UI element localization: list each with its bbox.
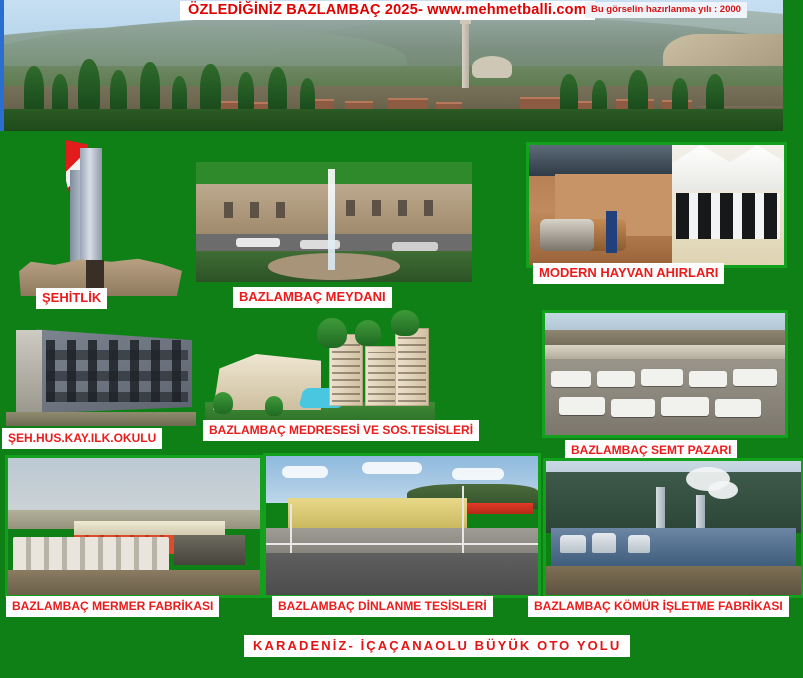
medrese-tree xyxy=(391,310,419,336)
storage-tank xyxy=(560,535,586,553)
school-ground xyxy=(6,412,196,426)
photo-bazlambac-komur-isletme-fabrikasi xyxy=(543,458,803,598)
market-van xyxy=(559,397,605,415)
smoke-plume xyxy=(708,481,738,499)
cow xyxy=(540,219,594,251)
caption-bazlambac-mermer-fabrikasi: BAZLAMBAÇ MERMER FABRİKASI xyxy=(6,596,219,617)
caption-modern-hayvan-ahirlari: MODERN HAYVAN AHIRLARI xyxy=(533,263,724,284)
market-van xyxy=(689,371,727,387)
market-van xyxy=(551,371,591,387)
school-windows xyxy=(46,340,188,402)
market-van xyxy=(715,399,761,417)
caption-bazlambac-medresesi: BAZLAMBAÇ MEDRESESİ VE SOS.TESİSLERİ xyxy=(203,420,479,441)
farm-worker xyxy=(606,211,617,253)
market-van xyxy=(641,369,683,386)
medrese-tower-block xyxy=(395,328,429,406)
photo-bazlambac-mermer-fabrikasi xyxy=(5,455,263,598)
marble-dark-hangar xyxy=(174,535,245,565)
cloud xyxy=(362,462,422,474)
cloud xyxy=(282,466,328,478)
photo-sehitlik xyxy=(8,140,188,295)
light-pole xyxy=(290,504,292,556)
marble-ground xyxy=(8,570,260,595)
caption-seh-hus-kay-ilk-okulu: ŞEH.HUS.KAY.ILK.OKULU xyxy=(2,428,162,449)
market-sheds xyxy=(545,345,785,360)
hero-left-edge xyxy=(0,0,4,131)
caption-bazlambac-komur-isletme-fabrikasi: BAZLAMBAÇ KÖMÜR İŞLETME FABRİKASI xyxy=(528,596,789,617)
medrese-tree xyxy=(213,392,233,414)
photo-bazlambac-meydani xyxy=(196,162,472,282)
market-van xyxy=(661,397,709,416)
parked-car xyxy=(392,242,438,251)
school-end-wall xyxy=(16,330,42,414)
market-van xyxy=(611,399,655,417)
medrese-tower-block xyxy=(365,346,399,406)
hero-foreground xyxy=(0,109,783,131)
monument-pylon xyxy=(80,148,102,263)
caption-bazlambac-dinlanme-tesisleri: BAZLAMBAÇ DİNLANME TESİSLERİ xyxy=(272,596,493,617)
medrese-tree xyxy=(265,396,283,416)
market-van xyxy=(597,371,635,387)
photo-bazlambac-medresesi xyxy=(205,310,435,428)
barn-tent-roof xyxy=(672,145,784,191)
caption-sehitlik: ŞEHİTLİK xyxy=(36,288,107,309)
reststop-building xyxy=(288,498,468,529)
storage-tank xyxy=(628,535,650,553)
medrese-tree xyxy=(317,318,347,348)
barn-right xyxy=(672,145,784,265)
fountain-water-jet xyxy=(328,169,335,270)
road-marking xyxy=(266,543,538,545)
cloud xyxy=(452,468,504,480)
plant-forest-hill xyxy=(546,472,801,534)
caption-bazlambac-meydani: BAZLAMBAÇ MEYDANI xyxy=(233,287,392,308)
parked-car xyxy=(236,238,280,247)
photo-modern-hayvan-ahirlari xyxy=(526,142,787,268)
barn-left xyxy=(529,145,672,265)
storage-tank xyxy=(592,533,616,553)
medrese-tree xyxy=(355,320,381,346)
petrol-station-canopy xyxy=(467,503,532,514)
plant-structures xyxy=(551,528,796,566)
cow-feeding-line xyxy=(676,193,779,239)
market-van xyxy=(733,369,777,386)
hero-poplar-trees xyxy=(0,52,783,114)
plant-ground xyxy=(546,566,801,595)
preparation-year-note: Bu görselin hazırlanma yılı : 2000 xyxy=(585,2,747,18)
barn-roof xyxy=(529,145,672,176)
photo-bazlambac-semt-pazari xyxy=(542,310,788,438)
page-title: ÖZLEDİĞİNİZ BAZLAMBAÇ 2025- www.mehmetba… xyxy=(180,1,595,20)
light-pole xyxy=(462,486,464,560)
reststop-parking xyxy=(266,528,538,553)
highway-road xyxy=(266,553,538,595)
footer-banner: KARADENİZ- İÇAÇANAOLU BÜYÜK OTO YOLU xyxy=(244,635,630,657)
marble-block-stacks xyxy=(13,537,169,573)
photo-bazlambac-dinlanme-tesisleri xyxy=(263,453,541,598)
photo-seh-hus-kay-ilk-okulu xyxy=(6,318,196,426)
